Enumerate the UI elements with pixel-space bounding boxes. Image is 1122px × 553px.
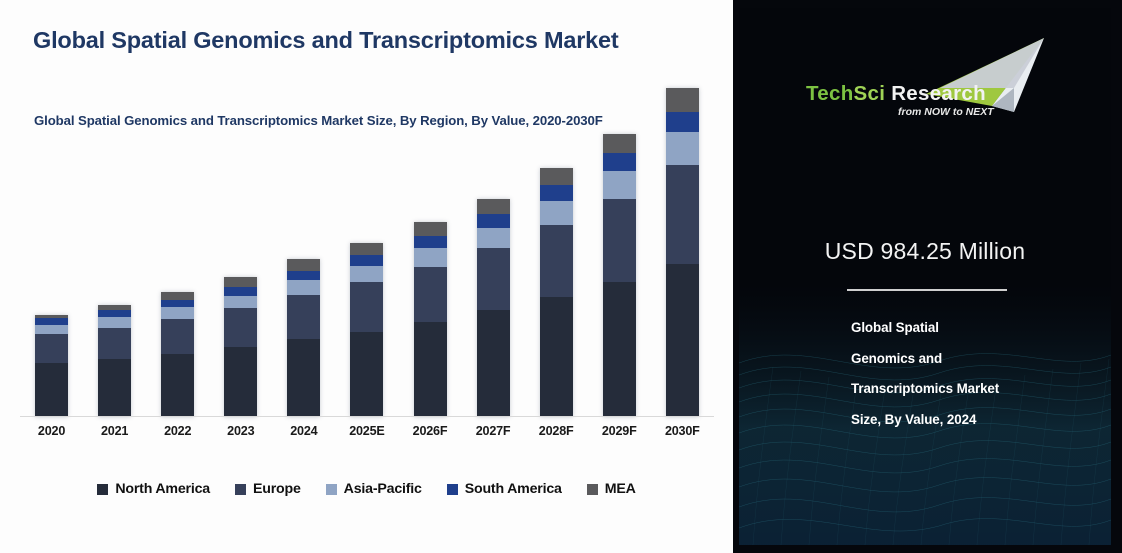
x-axis-tick-label: 2026F — [399, 424, 462, 438]
x-axis-tick-label: 2028F — [525, 424, 588, 438]
bar-segment — [477, 228, 510, 248]
legend-item[interactable]: Asia-Pacific — [326, 481, 422, 497]
x-axis-labels: 202020212022202320242025E2026F2027F2028F… — [20, 424, 714, 438]
legend-label: South America — [465, 481, 562, 497]
bar-segment — [35, 318, 68, 325]
stacked-bar — [98, 305, 131, 417]
chart-subtitle: Global Spatial Genomics and Transcriptom… — [34, 113, 603, 128]
legend-swatch-icon — [326, 484, 337, 495]
bar-segment — [287, 271, 320, 281]
bar-column — [588, 165, 651, 417]
bar-segment — [477, 310, 510, 417]
bar-segment — [666, 264, 699, 417]
bar-segment — [287, 280, 320, 295]
bar-segment — [540, 225, 573, 297]
bar-segment — [287, 339, 320, 417]
bar-segment — [350, 332, 383, 417]
bar-segment — [414, 322, 447, 417]
market-description: Global SpatialGenomics andTranscriptomic… — [851, 313, 1101, 435]
bar-column — [209, 165, 272, 417]
legend-item[interactable]: North America — [97, 481, 210, 497]
x-axis-tick-label: 2024 — [272, 424, 335, 438]
bar-column — [335, 165, 398, 417]
description-line: Genomics and — [851, 344, 1101, 375]
stacked-bar — [287, 259, 320, 417]
bar-column — [83, 165, 146, 417]
market-value-metric: USD 984.25 Million — [739, 238, 1111, 265]
bar-segment — [666, 165, 699, 264]
stacked-bar — [161, 292, 194, 417]
legend-swatch-icon — [97, 484, 108, 495]
bar-segment — [540, 201, 573, 225]
info-panel: TechSci Research from NOW to NEXT USD 98… — [733, 0, 1122, 553]
bar-segment — [35, 363, 68, 417]
stacked-bar — [666, 88, 699, 418]
x-axis-tick-label: 2021 — [83, 424, 146, 438]
bar-segment — [35, 325, 68, 334]
bar-segment — [350, 243, 383, 256]
bar-segment — [224, 308, 257, 347]
bar-column — [399, 165, 462, 417]
bar-column — [462, 165, 525, 417]
bar-segment — [98, 359, 131, 417]
bar-segment — [666, 112, 699, 132]
bar-segment — [477, 199, 510, 215]
logo-text-sci: Sci — [854, 82, 886, 105]
bar-segment — [666, 132, 699, 165]
legend-item[interactable]: South America — [447, 481, 562, 497]
stacked-bar — [477, 199, 510, 417]
description-line: Size, By Value, 2024 — [851, 405, 1101, 436]
bar-segment — [540, 297, 573, 417]
bar-segment — [161, 300, 194, 308]
x-axis-tick-label: 2027F — [462, 424, 525, 438]
bar-group — [20, 165, 714, 417]
logo-text-research: Research — [891, 82, 986, 105]
x-axis-tick-label: 2023 — [209, 424, 272, 438]
chart-plot-area — [20, 165, 714, 417]
bar-segment — [224, 296, 257, 309]
bar-segment — [287, 259, 320, 271]
bar-column — [20, 165, 83, 417]
x-axis-line — [20, 416, 714, 417]
bar-segment — [161, 292, 194, 300]
bar-segment — [603, 171, 636, 199]
bar-segment — [161, 307, 194, 319]
bar-segment — [414, 248, 447, 266]
bar-segment — [603, 134, 636, 153]
chart-panel: Global Spatial Genomics and Transcriptom… — [0, 0, 733, 553]
x-axis-tick-label: 2020 — [20, 424, 83, 438]
bar-segment — [477, 248, 510, 310]
bar-segment — [414, 222, 447, 236]
description-line: Global Spatial — [851, 313, 1101, 344]
bar-segment — [161, 354, 194, 417]
logo-tagline: from NOW to NEXT — [898, 106, 994, 118]
bar-segment — [414, 267, 447, 322]
legend-label: Europe — [253, 481, 301, 497]
description-line: Transcriptomics Market — [851, 374, 1101, 405]
divider — [847, 289, 1007, 291]
legend-swatch-icon — [587, 484, 598, 495]
legend-swatch-icon — [447, 484, 458, 495]
logo-wordmark: TechSci Research — [806, 82, 986, 106]
bar-segment — [350, 255, 383, 266]
stacked-bar — [224, 277, 257, 417]
stacked-bar — [35, 315, 68, 417]
legend-label: MEA — [605, 481, 636, 497]
legend-item[interactable]: Europe — [235, 481, 301, 497]
legend-item[interactable]: MEA — [587, 481, 636, 497]
bar-segment — [540, 168, 573, 185]
bar-column — [651, 165, 714, 417]
stacked-bar — [414, 222, 447, 417]
x-axis-tick-label: 2025E — [335, 424, 398, 438]
x-axis-tick-label: 2029F — [588, 424, 651, 438]
brand-logo: TechSci Research from NOW to NEXT — [739, 38, 1111, 128]
bar-segment — [414, 236, 447, 249]
bar-segment — [98, 310, 131, 317]
bar-column — [146, 165, 209, 417]
bar-segment — [603, 282, 636, 417]
bar-segment — [224, 287, 257, 296]
bar-segment — [98, 328, 131, 359]
stacked-bar — [603, 134, 636, 417]
logo-text-tech: Tech — [806, 82, 854, 105]
legend-label: North America — [115, 481, 210, 497]
x-axis-tick-label: 2022 — [146, 424, 209, 438]
bar-segment — [224, 347, 257, 417]
bar-segment — [540, 185, 573, 201]
bar-segment — [287, 295, 320, 340]
page-title: Global Spatial Genomics and Transcriptom… — [33, 27, 619, 54]
bar-segment — [350, 266, 383, 282]
bar-segment — [603, 153, 636, 170]
bar-segment — [161, 319, 194, 354]
bar-segment — [350, 282, 383, 331]
stacked-bar — [540, 168, 573, 417]
bar-segment — [477, 214, 510, 228]
stacked-bar — [350, 243, 383, 417]
bar-column — [525, 165, 588, 417]
legend-swatch-icon — [235, 484, 246, 495]
chart-legend: North AmericaEuropeAsia-PacificSouth Ame… — [0, 481, 733, 497]
bar-segment — [666, 88, 699, 112]
info-panel-inner: TechSci Research from NOW to NEXT USD 98… — [739, 8, 1111, 545]
bar-segment — [35, 334, 68, 363]
bar-column — [272, 165, 335, 417]
bar-segment — [603, 199, 636, 282]
bar-segment — [224, 277, 257, 287]
bar-segment — [98, 317, 131, 328]
legend-label: Asia-Pacific — [344, 481, 422, 497]
x-axis-tick-label: 2030F — [651, 424, 714, 438]
infographic-root: Global Spatial Genomics and Transcriptom… — [0, 0, 1122, 553]
logo-graphic: TechSci Research from NOW to NEXT — [800, 38, 1050, 128]
